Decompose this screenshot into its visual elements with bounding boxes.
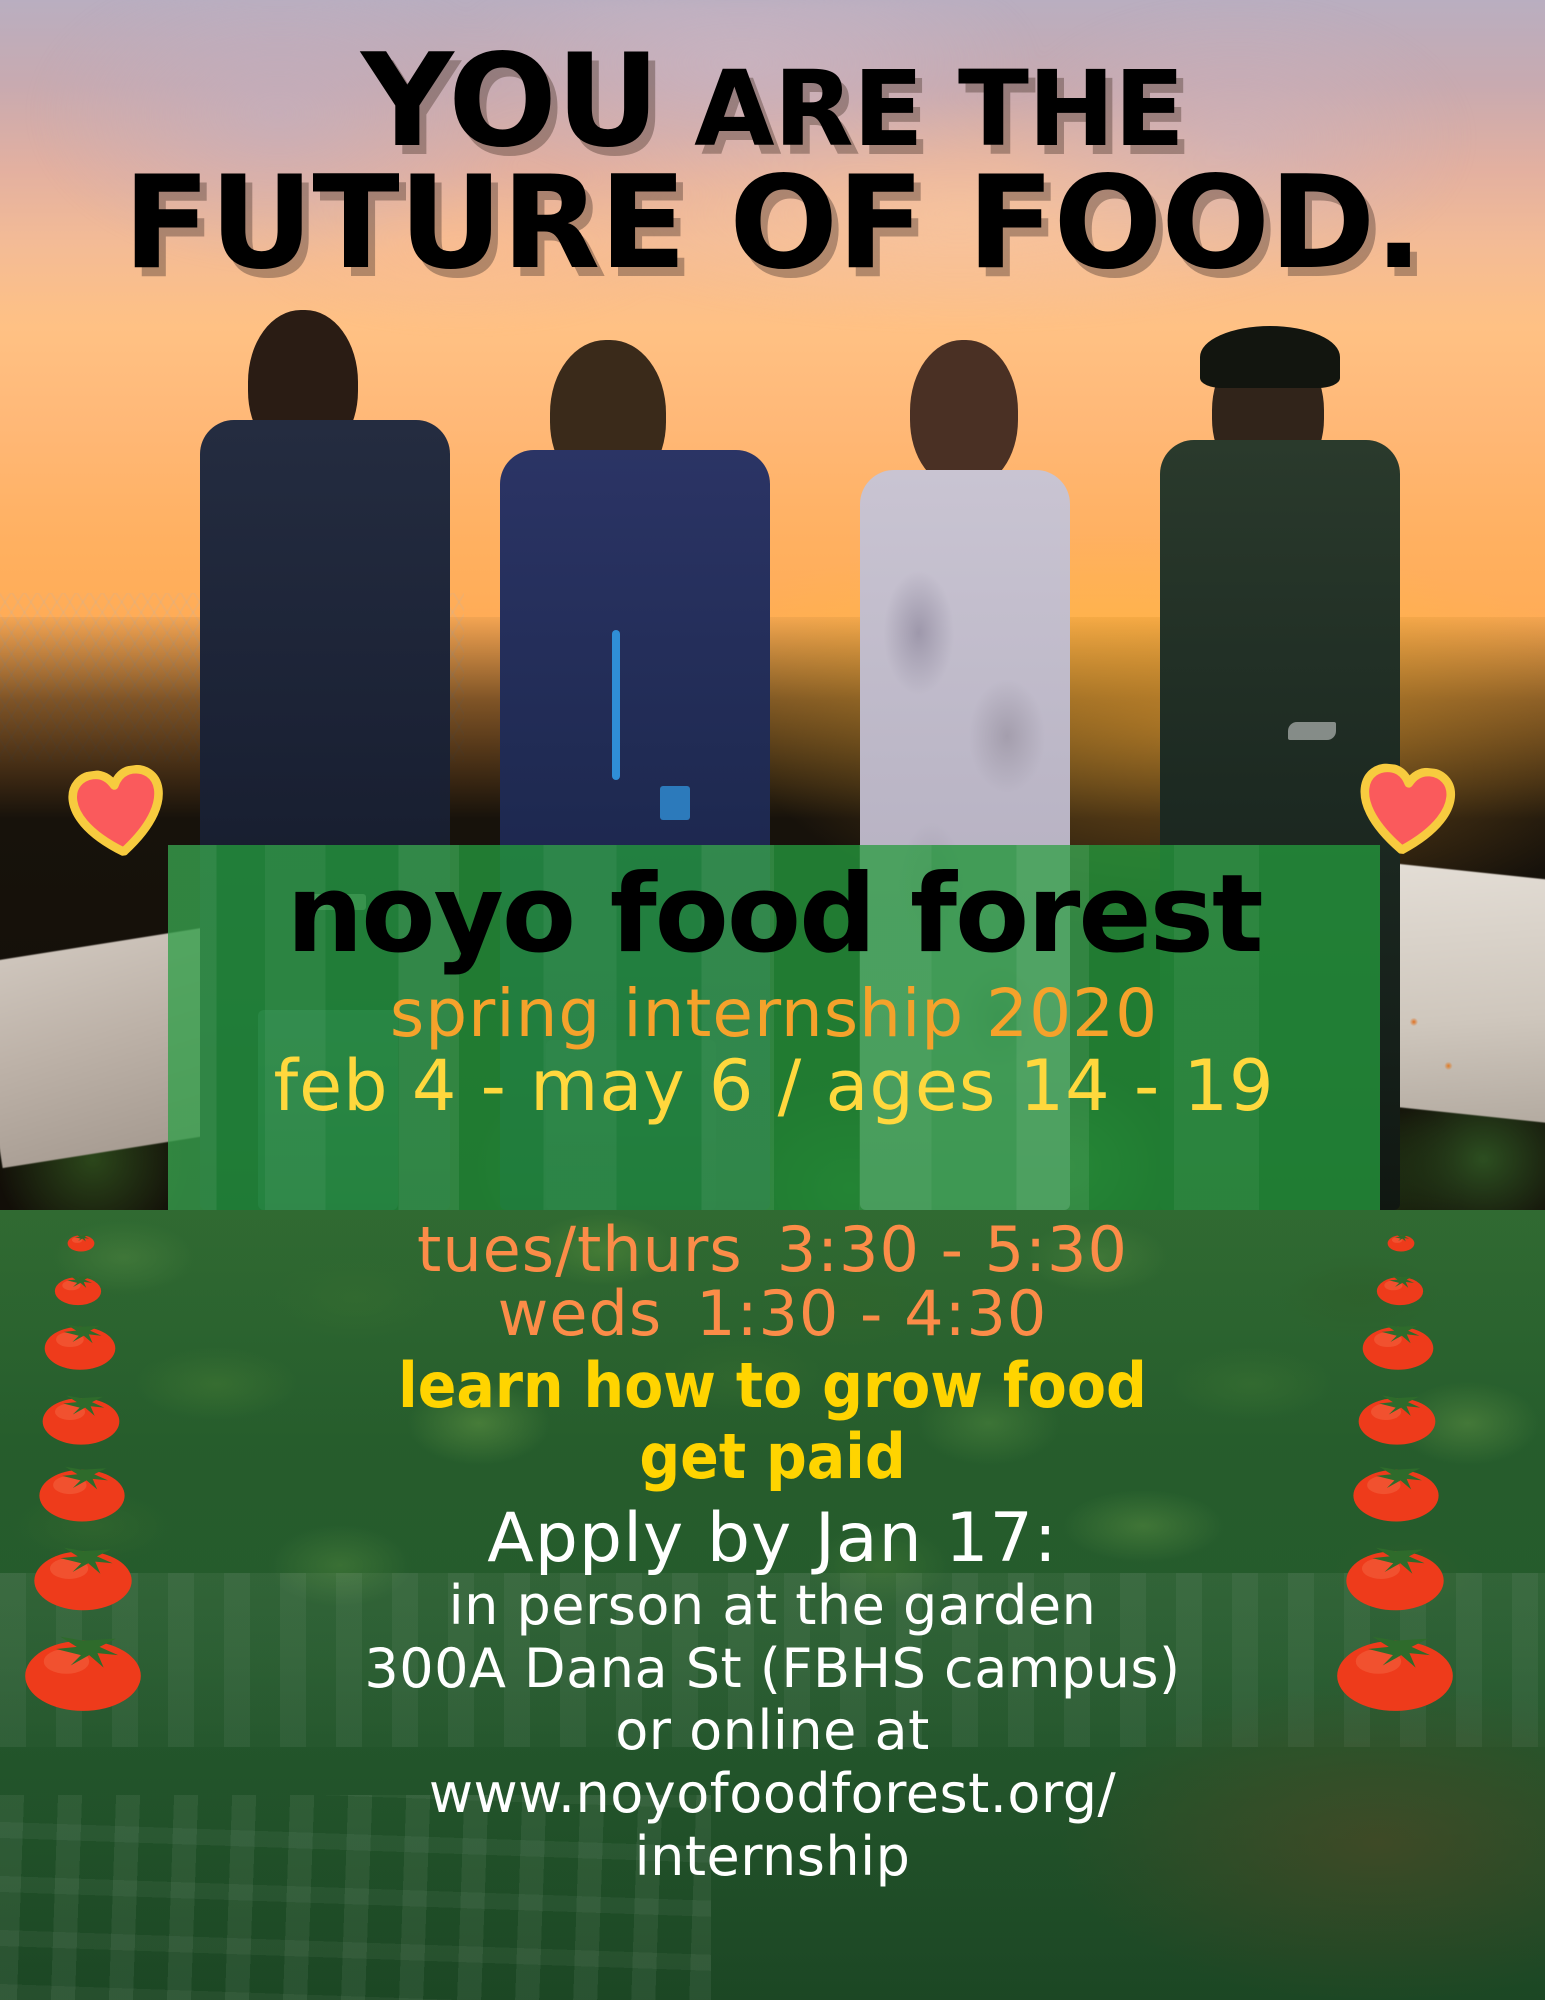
poster: YOU ARE THE FUTURE OF FOOD. noyo food fo… bbox=[0, 0, 1545, 2000]
heart-icon-right bbox=[1354, 761, 1459, 859]
tomato-icon bbox=[1348, 1453, 1444, 1523]
tomato-icon bbox=[18, 1618, 148, 1713]
tomato-icon bbox=[28, 1532, 138, 1612]
organization-name: noyo food forest bbox=[168, 845, 1380, 969]
tomato-icon bbox=[38, 1383, 124, 1446]
student-4-logo bbox=[1288, 722, 1336, 740]
heart-icon-left bbox=[64, 762, 171, 863]
student-2-drawstring bbox=[612, 630, 620, 780]
student-2-logo bbox=[660, 786, 690, 820]
tomato-icon bbox=[52, 1268, 104, 1306]
green-info-banner: noyo food forest spring internship 2020 … bbox=[168, 845, 1380, 1210]
program-dates-ages: feb 4 - may 6 / ages 14 - 19 bbox=[168, 1050, 1380, 1124]
student-3-head bbox=[910, 340, 1018, 488]
tomato-icon bbox=[1354, 1383, 1440, 1446]
tomato-icon bbox=[1358, 1313, 1438, 1371]
tomato-icon bbox=[1374, 1268, 1426, 1306]
tomato-icon bbox=[1386, 1230, 1416, 1252]
tomato-icon bbox=[66, 1230, 96, 1252]
tomato-icon bbox=[34, 1453, 130, 1523]
tomato-icon bbox=[1340, 1532, 1450, 1612]
pepper-photo-background bbox=[0, 1210, 1545, 2000]
tomato-icon bbox=[40, 1313, 120, 1371]
program-title: spring internship 2020 bbox=[168, 979, 1380, 1048]
banner-content: noyo food forest spring internship 2020 … bbox=[168, 845, 1380, 1124]
tomato-icon bbox=[1330, 1618, 1460, 1713]
student-4-cap bbox=[1200, 326, 1340, 388]
green-overlay bbox=[0, 1210, 1545, 2000]
